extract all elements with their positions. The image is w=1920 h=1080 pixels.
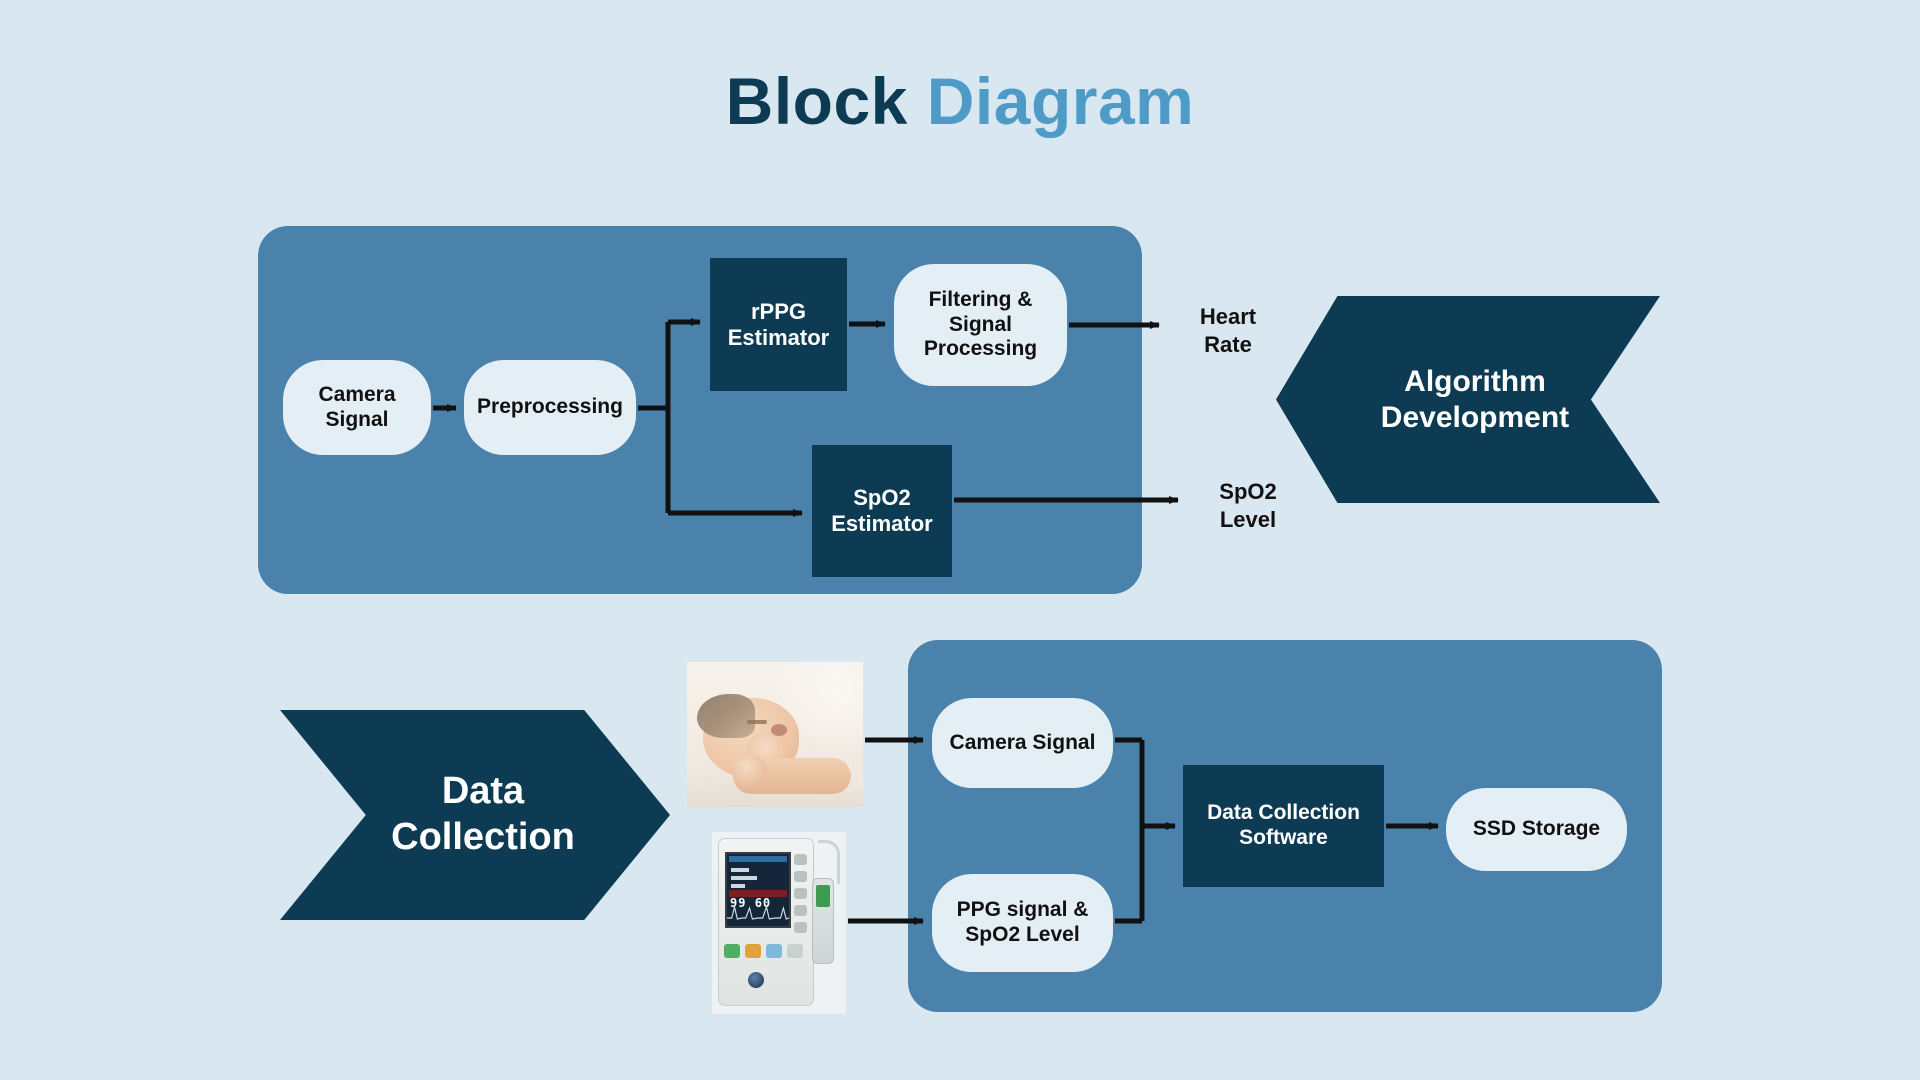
banner-data-collection-label: Data Collection bbox=[391, 769, 575, 860]
monitor-screen-row bbox=[731, 876, 757, 880]
node-camera-signal[interactable]: Camera Signal bbox=[283, 360, 431, 455]
baby-hair bbox=[697, 694, 755, 738]
monitor-spo2-probe bbox=[812, 878, 834, 964]
node-filtering-signal-processing[interactable]: Filtering & Signal Processing bbox=[894, 264, 1067, 386]
node-camera-signal-2-label: Camera Signal bbox=[950, 731, 1096, 756]
baby-mouth bbox=[771, 724, 787, 736]
node-spo2-estimator-label: SpO2 Estimator bbox=[831, 485, 932, 537]
baby-hand bbox=[733, 754, 767, 788]
monitor-side-button[interactable] bbox=[794, 905, 807, 916]
output-label-heart-rate: Heart Rate bbox=[1168, 303, 1288, 359]
node-camera-signal-label: Camera Signal bbox=[318, 383, 395, 433]
node-ppg-signal-spo2-level[interactable]: PPG signal & SpO2 Level bbox=[932, 874, 1113, 972]
monitor-screen: 99 60 bbox=[725, 852, 791, 928]
banner-data-collection: Data Collection bbox=[280, 710, 670, 920]
node-preprocessing[interactable]: Preprocessing bbox=[464, 360, 636, 455]
monitor-side-buttons[interactable] bbox=[794, 854, 807, 939]
sleeping-baby-photo bbox=[687, 662, 863, 807]
monitor-side-button[interactable] bbox=[794, 888, 807, 899]
node-ssd-storage-label: SSD Storage bbox=[1473, 817, 1600, 842]
page-title-word-block: Block bbox=[726, 64, 908, 138]
node-data-collection-software-label: Data Collection Software bbox=[1207, 801, 1360, 851]
monitor-screen-topbar bbox=[729, 856, 787, 862]
monitor-waveform bbox=[727, 902, 789, 924]
node-spo2-estimator[interactable]: SpO2 Estimator bbox=[812, 445, 952, 577]
banner-algorithm-development-label: Algorithm Development bbox=[1381, 364, 1569, 436]
node-filtering-signal-processing-label: Filtering & Signal Processing bbox=[924, 288, 1037, 362]
monitor-side-button[interactable] bbox=[794, 871, 807, 882]
monitor-print-key[interactable] bbox=[787, 944, 803, 958]
monitor-side-button[interactable] bbox=[794, 854, 807, 865]
monitor-screen-row bbox=[731, 884, 745, 888]
node-ssd-storage[interactable]: SSD Storage bbox=[1446, 788, 1627, 871]
output-label-spo2-level: SpO2 Level bbox=[1188, 478, 1308, 534]
page-title-word-diagram: Diagram bbox=[927, 64, 1195, 138]
baby-eye bbox=[747, 720, 767, 724]
monitor-sensor-port bbox=[748, 972, 764, 988]
monitor-side-button[interactable] bbox=[794, 922, 807, 933]
monitor-screen-row bbox=[731, 868, 749, 872]
monitor-alarm-key[interactable] bbox=[745, 944, 761, 958]
node-data-collection-software[interactable]: Data Collection Software bbox=[1183, 765, 1384, 887]
node-preprocessing-label: Preprocessing bbox=[477, 395, 623, 420]
monitor-menu-key[interactable] bbox=[766, 944, 782, 958]
node-ppg-signal-spo2-level-label: PPG signal & SpO2 Level bbox=[957, 898, 1089, 948]
patient-monitor-photo: 99 60 bbox=[712, 832, 846, 1014]
page-title: Block Diagram bbox=[0, 68, 1920, 134]
node-camera-signal-2[interactable]: Camera Signal bbox=[932, 698, 1113, 788]
monitor-probe-indicator bbox=[816, 885, 830, 907]
node-rppg-estimator-label: rPPG Estimator bbox=[728, 299, 829, 351]
monitor-front-keys[interactable] bbox=[724, 944, 803, 958]
node-rppg-estimator[interactable]: rPPG Estimator bbox=[710, 258, 847, 391]
monitor-power-key[interactable] bbox=[724, 944, 740, 958]
diagram-canvas: Block Diagram bbox=[0, 0, 1920, 1080]
banner-algorithm-development: Algorithm Development bbox=[1276, 296, 1660, 503]
